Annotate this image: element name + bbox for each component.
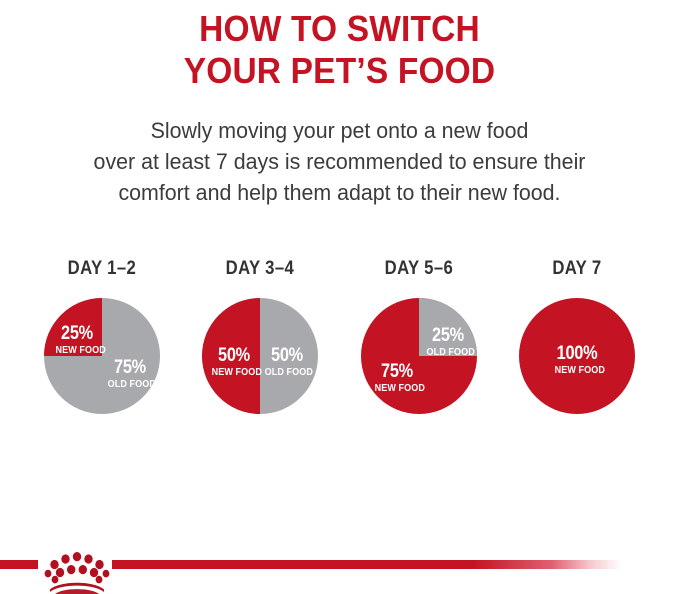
chart-cell-day-5-6: DAY 5–6 25% OLD FOOD 75% NEW FOOD <box>345 258 493 438</box>
day-label-4: DAY 7 <box>552 258 601 280</box>
pie-svg-day-1-2 <box>44 298 160 414</box>
pie-svg-day-5-6 <box>361 298 477 414</box>
chart-cell-day-3-4: DAY 3–4 50% NEW FOOD 50% OLD FOOD <box>186 258 334 438</box>
pie-chart-day-3-4: 50% NEW FOOD 50% OLD FOOD <box>202 298 318 414</box>
chart-cell-day-7: DAY 7 100% NEW FOOD <box>503 258 651 438</box>
royal-crown-svg <box>42 549 112 594</box>
title-line-1: HOW TO SWITCH <box>24 8 655 50</box>
pie-chart-day-7: 100% NEW FOOD <box>519 298 635 414</box>
pie-slice-new-food <box>202 298 260 414</box>
chart-cell-day-1-2: DAY 1–2 25% NEW FOOD 75% OLD FOOD <box>28 258 176 438</box>
page-title: HOW TO SWITCH YOUR PET’S FOOD <box>24 8 655 93</box>
footer-rule-right <box>112 560 679 569</box>
pie-svg-day-7 <box>519 298 635 414</box>
pie-slice-new-food <box>519 298 635 414</box>
pie-chart-day-1-2: 25% NEW FOOD 75% OLD FOOD <box>44 298 160 414</box>
title-line-2: YOUR PET’S FOOD <box>24 50 655 92</box>
subtitle-line-2: over at least 7 days is recommended to e… <box>17 146 662 177</box>
day-label-3: DAY 5–6 <box>384 258 452 280</box>
footer-rule-left <box>0 560 38 569</box>
pie-svg-day-3-4 <box>202 298 318 414</box>
royal-crown-icon <box>42 549 112 594</box>
subtitle-line-1: Slowly moving your pet onto a new food <box>17 115 662 146</box>
pie-slice-old-food <box>419 298 477 356</box>
subtitle-line-3: comfort and help them adapt to their new… <box>17 177 662 208</box>
page-subtitle: Slowly moving your pet onto a new food o… <box>17 115 662 208</box>
day-label-1: DAY 1–2 <box>68 258 136 280</box>
pie-slice-new-food <box>44 298 102 356</box>
day-label-2: DAY 3–4 <box>226 258 294 280</box>
pie-chart-row: DAY 1–2 25% NEW FOOD 75% OLD FOOD DAY 3–… <box>0 258 679 438</box>
pie-chart-day-5-6: 25% OLD FOOD 75% NEW FOOD <box>361 298 477 414</box>
page-header: HOW TO SWITCH YOUR PET’S FOOD Slowly mov… <box>0 0 679 208</box>
